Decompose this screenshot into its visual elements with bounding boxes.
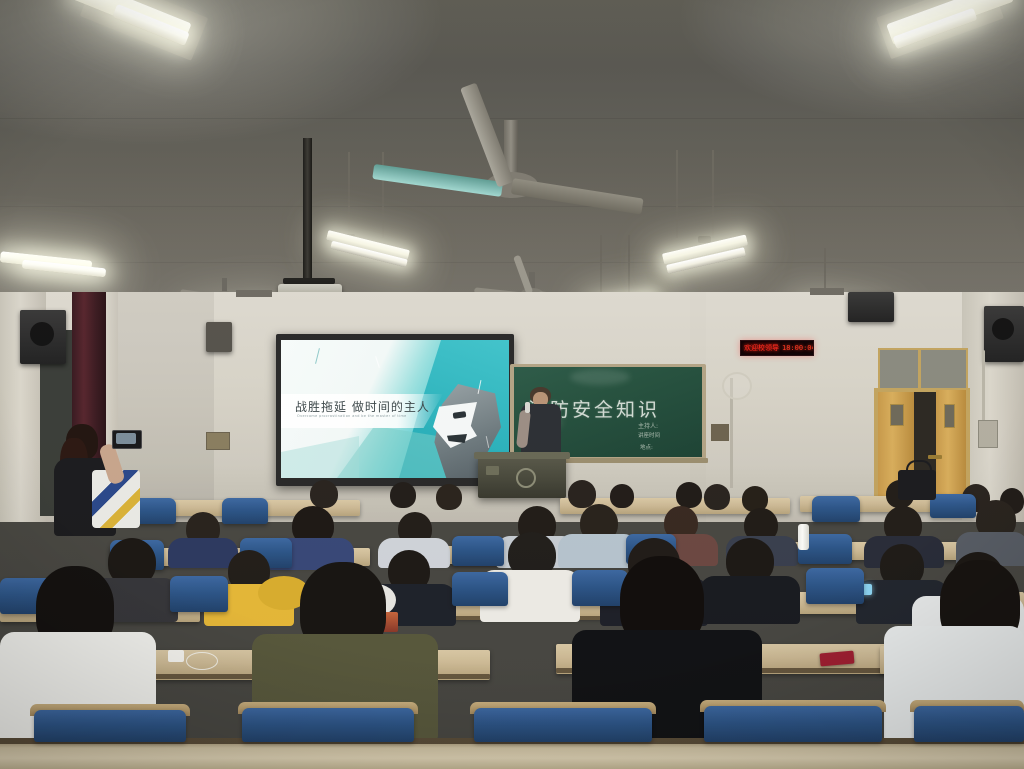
student-head (568, 480, 596, 508)
classroom-seat (222, 498, 268, 524)
foreground-seat (914, 706, 1024, 742)
student-head (676, 482, 702, 508)
student-head (310, 480, 338, 508)
podium-emblem (516, 468, 536, 488)
wall-outlet-plate (206, 432, 230, 450)
student-head (390, 482, 416, 508)
wall-speaker (848, 292, 894, 322)
door-window (944, 404, 955, 428)
lecture-hall-photo: 欢迎校领导 18:00:04 战胜拖延 做时间的主人 Overcome proc… (0, 0, 1024, 769)
bag-handle (906, 460, 932, 474)
blackboard-note: 讲座时间 (638, 431, 660, 439)
slide-subtitle: Overcome procrastination and be the mast… (297, 414, 407, 418)
classroom-seat (170, 576, 228, 612)
student-head (704, 484, 730, 510)
foreground-seat (474, 708, 652, 742)
student-head (610, 484, 634, 508)
blackboard-note: 主持人: (638, 421, 658, 430)
classroom-seat (806, 568, 864, 604)
wall-speaker (206, 322, 232, 352)
wall-bracket (236, 290, 272, 297)
classroom-seat (452, 572, 508, 606)
white-earbuds (186, 652, 218, 670)
speaker-cone (992, 318, 1014, 340)
led-sign-time: 18:00:04 (779, 344, 814, 352)
podium-top-surface (474, 452, 570, 459)
projector-mount-pole (303, 138, 312, 280)
door-handle (928, 455, 942, 459)
light-rod (348, 152, 350, 238)
ceiling-seam (0, 206, 1024, 207)
led-sign-message: 欢迎校领导 (741, 345, 779, 352)
light-rod (676, 150, 678, 238)
classroom-seat (452, 536, 504, 566)
foreground-desk-row (0, 742, 1024, 769)
led-sign: 欢迎校领导 18:00:04 (740, 340, 814, 356)
light-rod (628, 235, 630, 295)
photographer-phone-screen (116, 433, 136, 444)
wall-conduit (982, 350, 985, 422)
student-torso (168, 538, 238, 568)
foreground-seat (704, 706, 882, 742)
classroom-seat (930, 494, 976, 518)
slide-title: 战胜拖延 做时间的主人 (295, 398, 430, 415)
electrical-box (978, 420, 998, 448)
door-transom-window (878, 348, 968, 392)
transom-divider (918, 348, 921, 388)
tissue (168, 650, 184, 662)
chalk-smudge (570, 369, 630, 385)
black-handbag (898, 470, 936, 500)
door-window (890, 404, 904, 426)
speaker-cone (30, 322, 54, 346)
wall-fan-head (722, 372, 752, 400)
light-rod (600, 235, 602, 295)
ceiling-seam (0, 118, 1024, 119)
water-bottle (798, 524, 809, 550)
foreground-seat (242, 708, 414, 742)
wall-bracket (810, 288, 844, 295)
foreground-seat (34, 710, 186, 742)
classroom-seat (812, 496, 860, 522)
ceiling-seam (0, 262, 1024, 263)
student-head (436, 484, 462, 510)
wall-sign (711, 424, 729, 441)
microphone (525, 402, 530, 413)
light-rod (712, 150, 714, 238)
blackboard-note: 地点: (640, 443, 653, 451)
podium-equipment (486, 466, 499, 475)
student-torso (700, 576, 800, 624)
